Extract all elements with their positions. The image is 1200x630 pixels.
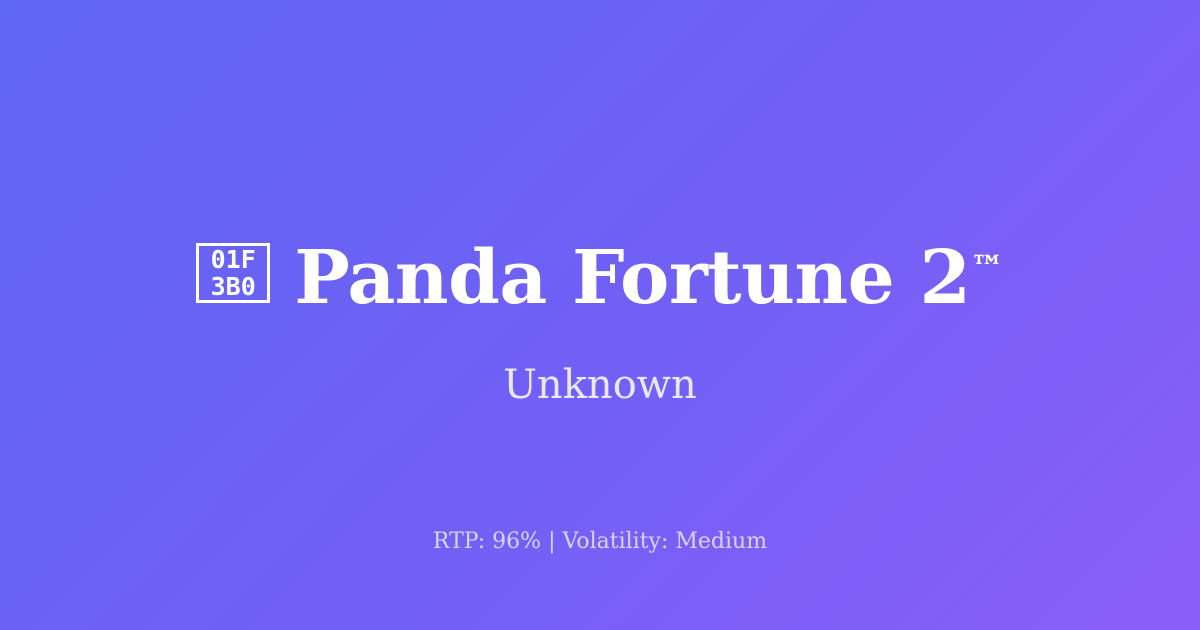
tofu-hex-upper: 01F bbox=[211, 246, 256, 273]
title-row: 01F 3B0 Panda Fortune 2™ bbox=[0, 228, 1200, 318]
slot-machine-icon: 01F 3B0 bbox=[196, 243, 270, 303]
trademark-symbol: ™ bbox=[971, 248, 1004, 287]
game-stats-footer: RTP: 96% | Volatility: Medium bbox=[0, 528, 1200, 556]
game-title-text: Panda Fortune 2 bbox=[294, 235, 970, 321]
game-provider-subtitle: Unknown bbox=[0, 360, 1200, 410]
page-title: Panda Fortune 2™ bbox=[294, 228, 1004, 318]
tofu-hex-lower: 3B0 bbox=[211, 273, 256, 300]
game-preview-card: 01F 3B0 Panda Fortune 2™ Unknown RTP: 96… bbox=[0, 0, 1200, 630]
